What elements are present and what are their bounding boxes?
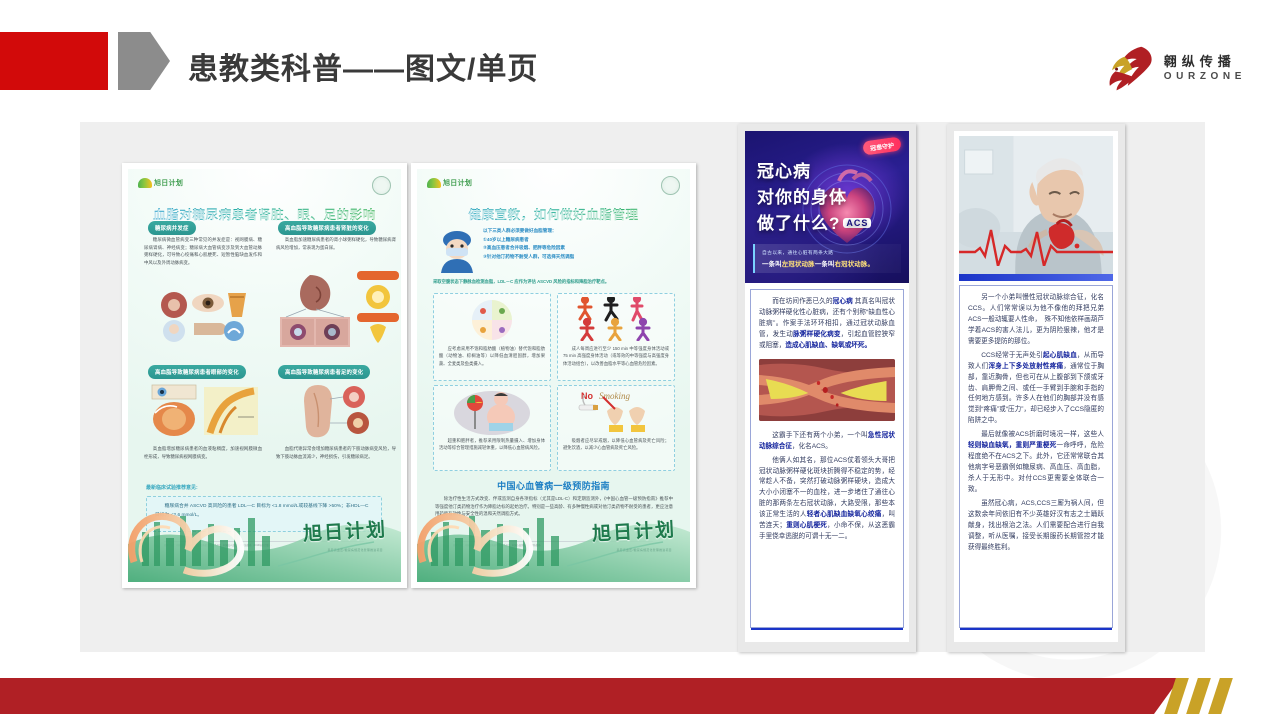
sun-logo-icon	[427, 178, 441, 188]
poster-thumbnail-1[interactable]: 旭日计划 血脂对糖尿病患者肾脏、眼、足的影响 糖尿病并发症 糖尿病微血管病变三种…	[122, 163, 407, 588]
poster-thumbnail-2[interactable]: 旭日计划 健康宣教，如何做好血脂管理 以下三类人群必须要做好血脂管理： ①40岁…	[411, 163, 696, 588]
poster-2-intro-item-1: ①40岁以上糖尿病患者	[483, 236, 675, 245]
phoenix-logo-icon	[1102, 40, 1158, 96]
panel-3-title-line-3-text: 做了什么?	[757, 214, 840, 233]
ecg-waveform-icon	[959, 218, 1113, 266]
panel-4-paragraph-4: 虽然冠心病，ACS,CCS三厮为祸人间，但这数余年间依旧有不少英雄好汉有志之士踊…	[968, 499, 1104, 554]
poster-2-logo: 旭日计划	[427, 178, 472, 188]
poster-2-card-3-text: 超重和肥胖者，推荐采用限制热量摄入、增加身体活动等综合管理措施减轻体重，以降低心…	[439, 437, 545, 452]
poster-2-intro: 以下三类人群必须要做好血脂管理： ①40岁以上糖尿病患者 ②高血压患者合并吸烟、…	[483, 227, 675, 262]
poster-2-card-2-text: 成人每周应进行至少 150 min 中等强度身体活动或 75 min 高强度身体…	[563, 345, 669, 367]
header-accent-gray-arrow	[118, 32, 170, 90]
header-accent-red-block	[0, 32, 108, 90]
diabetes-complication-illustration	[150, 287, 254, 349]
poster-2-logo-label: 旭日计划	[443, 178, 472, 188]
doctor-avatar-icon	[435, 227, 479, 273]
panel-4-body: 另一个小弟叫慢性冠状动脉综合征，化名CCS。人们常常误以为他不像他的拜把兄弟AC…	[959, 285, 1113, 628]
overweight-child-illustration	[453, 389, 531, 435]
brand-name-cn: 翱纵传播	[1164, 55, 1246, 68]
panel-3-title-line-2: 对你的身体	[757, 183, 847, 208]
panel-3-strip-small: 自古以来，通往心脏有两条大路	[762, 249, 894, 256]
brand-logo: 翱纵传播 OURZONE	[1102, 40, 1246, 96]
poster-2-intro-item-3: ③针对他汀药物不耐受人群，可选择天然调脂	[483, 253, 675, 262]
footer-red-band	[0, 678, 1180, 714]
poster-1-section-3-pill: 高血脂导致糖尿病患者眼部的变化	[148, 365, 246, 379]
panel-3-strip: 自古以来，通往心脏有两条大路 一条叫左冠状动脉一条叫右冠状动脉。	[753, 244, 901, 273]
brand-name-en: OURZONE	[1164, 72, 1246, 82]
no-smoking-illustration: No Smoking	[573, 387, 659, 435]
poster-1-logo: 旭日计划	[138, 178, 183, 188]
panel-3-badge: 冠患守护	[862, 136, 902, 155]
panel-4-paragraph-2: CCS经常于无声处引起心肌缺血，从而导致人们浑身上下多处放射性疼痛，通常位于胸部…	[968, 351, 1104, 428]
poster-1-footer-script: 旭日计划	[302, 515, 387, 546]
diabetic-foot-illustration	[296, 383, 380, 439]
panel-4-hero	[959, 136, 1113, 274]
poster-1-section-1-text: 糖尿病微血管病变三种常见的并发症是：视网膜病、糖尿病肾病、神经病变；糖尿病大血管…	[144, 236, 262, 266]
poster-2-footer-script: 旭日计划	[591, 515, 676, 546]
poster-2-footer-art: 旭日计划 基层高血压/糖尿病规范化管理推进项目	[417, 470, 690, 582]
panel-3-hero: 冠患守护 冠心病 对你的身体 做了什么?ACS 自古以来，通往心脏有两条大路 一…	[745, 131, 909, 283]
panel-3-title-line-3: 做了什么?ACS	[757, 209, 871, 234]
food-choice-illustration	[461, 299, 523, 341]
exercise-people-illustration	[575, 297, 659, 341]
poster-2-card-1-text: 应考虑采用不饱和脂肪酸（植物油）替代饱和脂肪酸（动物油、棕榈油等）以降低血清胆固…	[439, 345, 545, 367]
footer-slash-2	[1186, 678, 1211, 714]
poster-1-page: 旭日计划 血脂对糖尿病患者肾脏、眼、足的影响 糖尿病并发症 糖尿病微血管病变三种…	[128, 169, 401, 582]
svg-text:Smoking: Smoking	[599, 391, 630, 401]
panel-4-hero-divider	[959, 274, 1113, 281]
seal-icon	[661, 176, 680, 195]
panel-3-strip-b1: 左冠状动脉	[782, 261, 815, 268]
poster-1-section-3-text: 高血脂增加糖尿病患者的血液粘稠度，加速视网膜微血栓形成，导致糖尿病视网膜病变。	[144, 445, 262, 460]
poster-1-section-2-text: 高血脂加速糖尿病患者的肾小球粥样硬化，导致糖尿病肾病风险增加，常表现为蛋白尿。	[276, 236, 396, 251]
panel-3-paragraph-2: 这霸手下还有两个小弟，一个叫急性冠状动脉综合征，化名ACS。	[759, 431, 895, 453]
poster-1-section-3-pill-row: 高血脂导致糖尿病患者眼部的变化	[148, 365, 246, 379]
panel-3-strip-b2: 右冠状动脉。	[835, 261, 875, 268]
panel-4-page: 另一个小弟叫慢性冠状动脉综合征，化名CCS。人们常常误以为他不像他的拜把兄弟AC…	[954, 131, 1118, 642]
panel-3-acs-chip: ACS	[843, 218, 871, 228]
panel-3-strip-mid: 一条叫	[815, 261, 835, 268]
panel-3-strip-pre: 一条叫	[762, 261, 782, 268]
poster-2-page: 旭日计划 健康宣教，如何做好血脂管理 以下三类人群必须要做好血脂管理： ①40岁…	[417, 169, 690, 582]
poster-1-section-2-pill-row: 高血脂导致糖尿病患者肾脏的变化	[278, 221, 376, 235]
page-title: 患教类科普——图文/单页	[188, 44, 538, 88]
poster-1-logo-label: 旭日计划	[154, 178, 183, 188]
panel-3-strip-big: 一条叫左冠状动脉一条叫右冠状动脉。	[762, 259, 894, 268]
panel-3-page: 冠患守护 冠心病 对你的身体 做了什么?ACS 自古以来，通往心脏有两条大路 一…	[745, 131, 909, 642]
poster-1-section-1-pill: 糖尿病并发症	[148, 221, 196, 235]
poster-1-section-4-pill-row: 高血脂导致糖尿病患者足的变化	[278, 365, 370, 379]
poster-1-section-1-pill-row: 糖尿病并发症	[148, 221, 196, 235]
poster-1-section-2-pill: 高血脂导致糖尿病患者肾脏的变化	[278, 221, 376, 235]
panel-3-body: 而在坊间作恶已久的冠心病 其真名叫冠状动脉粥样硬化性心脏病，还有个别称“缺血性心…	[750, 289, 904, 628]
poster-1-section-4-pill: 高血脂导致糖尿病患者足的变化	[278, 365, 370, 379]
poster-1-footer-sub: 基层高血压/糖尿病规范化管理推进项目	[327, 548, 383, 552]
kidney-glomerulus-illustration	[276, 269, 354, 349]
poster-2-intro-item-2: ②高血压患者合并吸烟、肥胖等危险因素	[483, 244, 675, 253]
panel-3-title-line-1: 冠心病	[757, 157, 811, 182]
footer-slash-3	[1208, 678, 1233, 714]
poster-2-footer-sub: 基层高血压/糖尿病规范化管理推进项目	[616, 548, 672, 552]
h5-panel-ccs[interactable]: 另一个小弟叫慢性冠状动脉综合征，化名CCS。人们常常误以为他不像他的拜把兄弟AC…	[947, 124, 1125, 652]
poster-2-lead: 采取空腹状态下静脉血检测血脂，LDL－C 应作为评估 ASCVD 风险的指标和降…	[433, 279, 679, 286]
atherosclerosis-plaque-illustration	[759, 359, 895, 421]
poster-2-intro-head: 以下三类人群必须要做好血脂管理：	[483, 227, 675, 236]
h5-panel-cad-acs[interactable]: 冠患守护 冠心病 对你的身体 做了什么?ACS 自古以来，通往心脏有两条大路 一…	[738, 124, 916, 652]
poster-1-section-4-text: 血脂代谢异常会增加糖尿病患者的下肢动脉病变风险，导致下肢动脉血流减少，神经损伤，…	[276, 445, 396, 460]
panel-4-paragraph-1: 另一个小弟叫慢性冠状动脉综合征，化名CCS。人们常常误以为他不像他的拜把兄弟AC…	[968, 293, 1104, 348]
kidney-risk-chart-illustration	[356, 269, 400, 349]
panel-4-paragraph-3: 最后就像被ACS折磨时境况一样，这些人轻则缺血缺氧，重则严重梗死一命呼呼，危险程…	[968, 430, 1104, 496]
seal-icon	[372, 176, 391, 195]
poster-2-card-4-text: 吸烟者应尽早戒烟，以降低心血管病及死亡风险；避免饮酒，以减少心血管病及死亡风险。	[563, 437, 669, 452]
poster-2-title: 健康宣教，如何做好血脂管理	[417, 204, 690, 223]
eye-retina-illustration	[150, 383, 262, 439]
sun-logo-icon	[138, 178, 152, 188]
panel-3-paragraph-1: 而在坊间作恶已久的冠心病 其真名叫冠状动脉粥样硬化性心脏病，还有个别称“缺血性心…	[759, 297, 895, 352]
panel-3-paragraph-3: 他俩人如其名，那位ACS仗着领头大哥把冠状动脉粥样硬化斑块折腾得不稳定的势，经常…	[759, 456, 895, 544]
poster-1-footer-art: 旭日计划 基层高血压/糖尿病规范化管理推进项目	[128, 470, 401, 582]
